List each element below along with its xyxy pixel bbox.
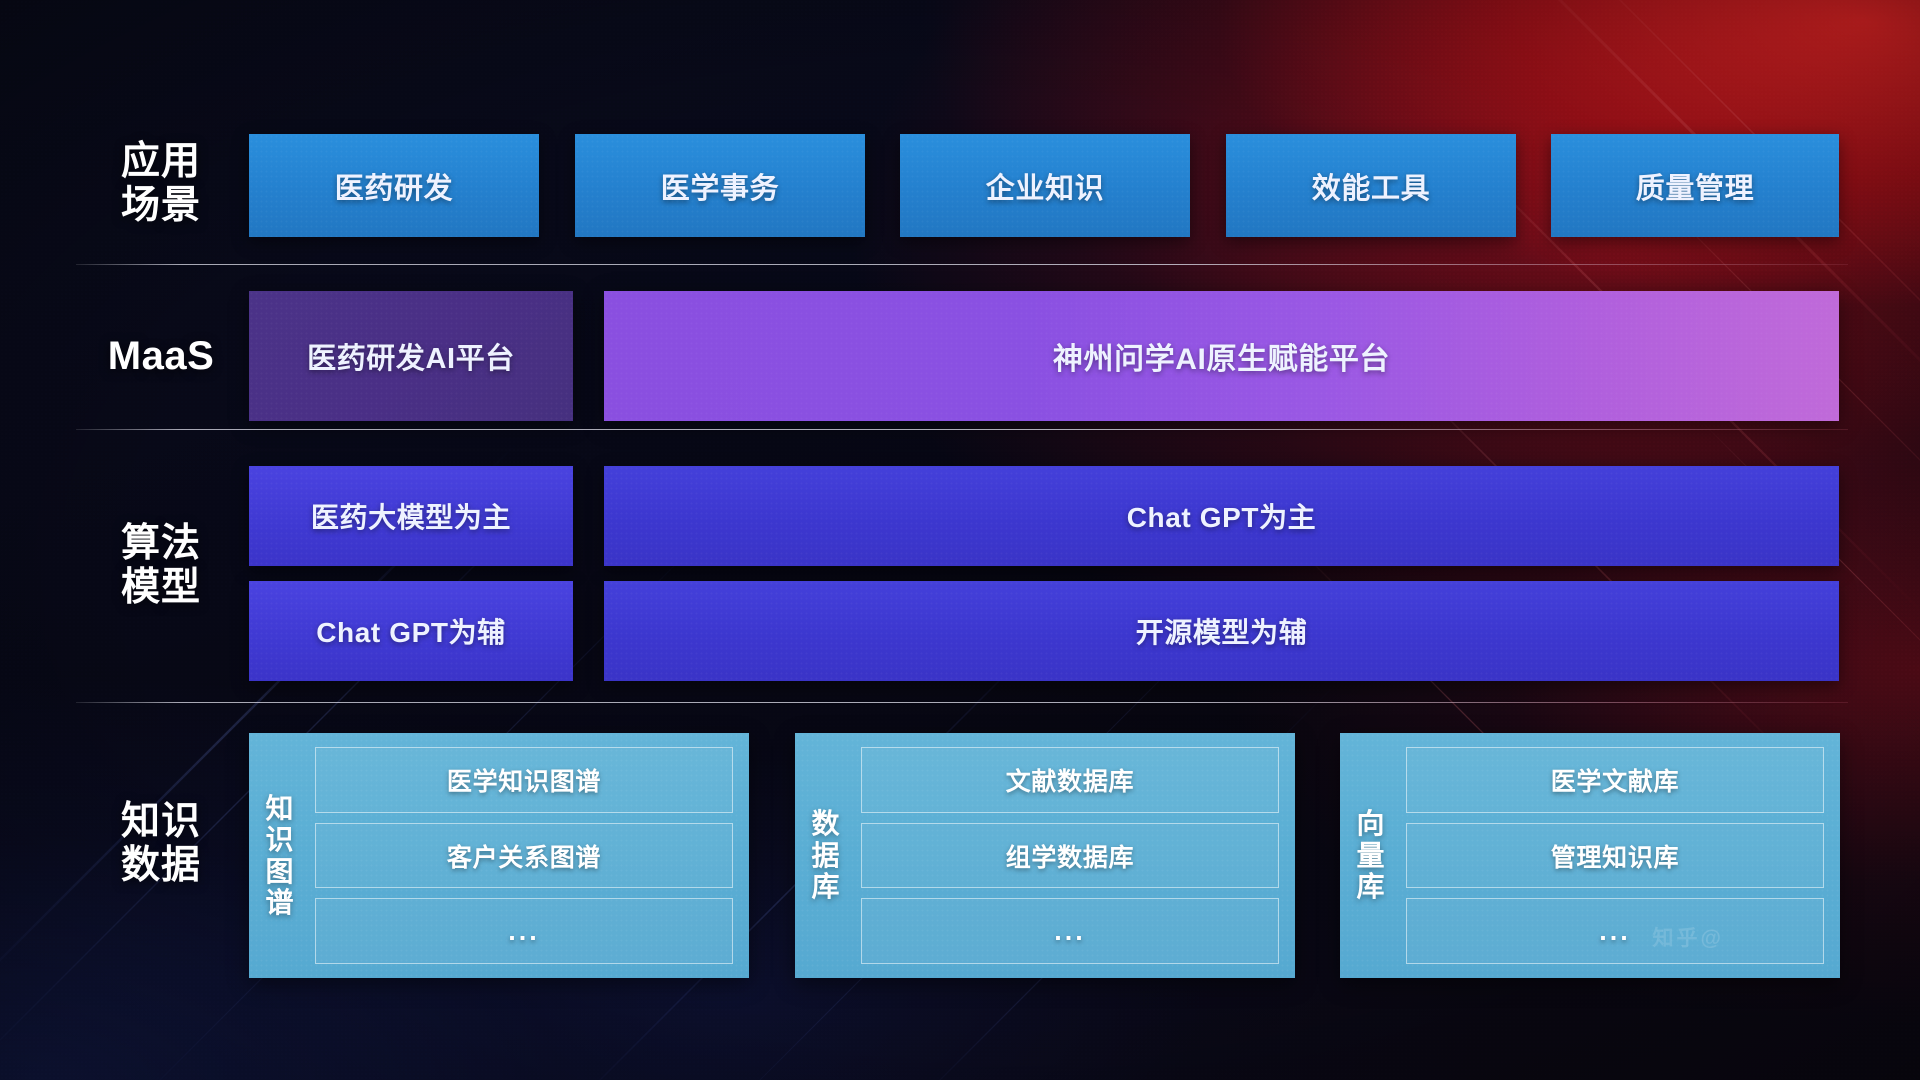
row-label-knowledge-data: 知识 数据	[76, 800, 246, 889]
scenario-card-2-label: 医学事务	[661, 165, 779, 207]
scenario-card-1-label: 医药研发	[335, 165, 453, 207]
row-label-application-scenarios: 应用 场景	[76, 140, 246, 229]
knowledge-group-1-side-label: 知识图谱	[249, 733, 311, 978]
maas-card-platform-label: 医药研发AI平台	[307, 335, 515, 377]
knowledge-group-1-side-label-text: 知识图谱	[265, 793, 294, 918]
row-label-maas: MaaS	[76, 334, 246, 380]
maas-card-enablement-platform-label: 神州问学AI原生赋能平台	[1053, 334, 1390, 378]
scenario-card-3-label: 企业知识	[986, 165, 1104, 207]
algorithm-card-secondary-opensource-label: 开源模型为辅	[1136, 611, 1308, 651]
scenario-card-5[interactable]: 质量管理	[1551, 134, 1839, 237]
algorithm-card-primary-medical[interactable]: 医药大模型为主	[249, 466, 573, 566]
knowledge-group-2-side-label-text: 数据库	[811, 808, 840, 902]
knowledge-item-management-kb[interactable]: 管理知识库	[1406, 823, 1824, 889]
algorithm-card-secondary-chatgpt[interactable]: Chat GPT为辅	[249, 581, 573, 681]
knowledge-group-3-side-label-text: 向量库	[1356, 808, 1385, 902]
diagram-stage: 应用 场景 医药研发 医学事务 企业知识 效能工具 质量管理 MaaS 医药研发…	[0, 0, 1920, 1080]
knowledge-group-vector-store[interactable]: 向量库 医学文献库 管理知识库 ...	[1340, 733, 1840, 978]
algorithm-card-primary-chatgpt[interactable]: Chat GPT为主	[604, 466, 1839, 566]
maas-card-enablement-platform[interactable]: 神州问学AI原生赋能平台	[604, 291, 1839, 421]
knowledge-group-1-items: 医学知识图谱 客户关系图谱 ...	[311, 733, 749, 978]
knowledge-item-omics-db[interactable]: 组学数据库	[861, 823, 1279, 889]
algorithm-card-primary-chatgpt-label: Chat GPT为主	[1127, 496, 1317, 536]
algorithm-card-primary-medical-label: 医药大模型为主	[311, 496, 511, 536]
knowledge-item-more-3[interactable]: ...	[1406, 898, 1824, 964]
scenario-card-4[interactable]: 效能工具	[1226, 134, 1516, 237]
scenario-card-1[interactable]: 医药研发	[249, 134, 539, 237]
knowledge-item-literature-db[interactable]: 文献数据库	[861, 747, 1279, 813]
divider-2	[76, 429, 1848, 430]
knowledge-item-more-1[interactable]: ...	[315, 898, 733, 964]
scenario-card-4-label: 效能工具	[1312, 165, 1430, 207]
scenario-card-3[interactable]: 企业知识	[900, 134, 1190, 237]
knowledge-group-2-side-label: 数据库	[795, 733, 857, 978]
knowledge-item-medical-kg[interactable]: 医学知识图谱	[315, 747, 733, 813]
divider-1	[76, 264, 1848, 265]
scenario-card-5-label: 质量管理	[1636, 165, 1754, 207]
knowledge-group-database[interactable]: 数据库 文献数据库 组学数据库 ...	[795, 733, 1295, 978]
knowledge-item-medical-literature[interactable]: 医学文献库	[1406, 747, 1824, 813]
algorithm-card-secondary-chatgpt-label: Chat GPT为辅	[316, 611, 506, 651]
knowledge-item-customer-kg[interactable]: 客户关系图谱	[315, 823, 733, 889]
maas-card-platform[interactable]: 医药研发AI平台	[249, 291, 573, 421]
scenario-card-2[interactable]: 医学事务	[575, 134, 865, 237]
knowledge-group-knowledge-graph[interactable]: 知识图谱 医学知识图谱 客户关系图谱 ...	[249, 733, 749, 978]
knowledge-group-3-items: 医学文献库 管理知识库 ...	[1402, 733, 1840, 978]
row-label-algorithm-models: 算法 模型	[76, 522, 246, 611]
divider-3	[76, 702, 1848, 703]
algorithm-card-secondary-opensource[interactable]: 开源模型为辅	[604, 581, 1839, 681]
knowledge-group-2-items: 文献数据库 组学数据库 ...	[857, 733, 1295, 978]
knowledge-group-3-side-label: 向量库	[1340, 733, 1402, 978]
knowledge-item-more-2[interactable]: ...	[861, 898, 1279, 964]
